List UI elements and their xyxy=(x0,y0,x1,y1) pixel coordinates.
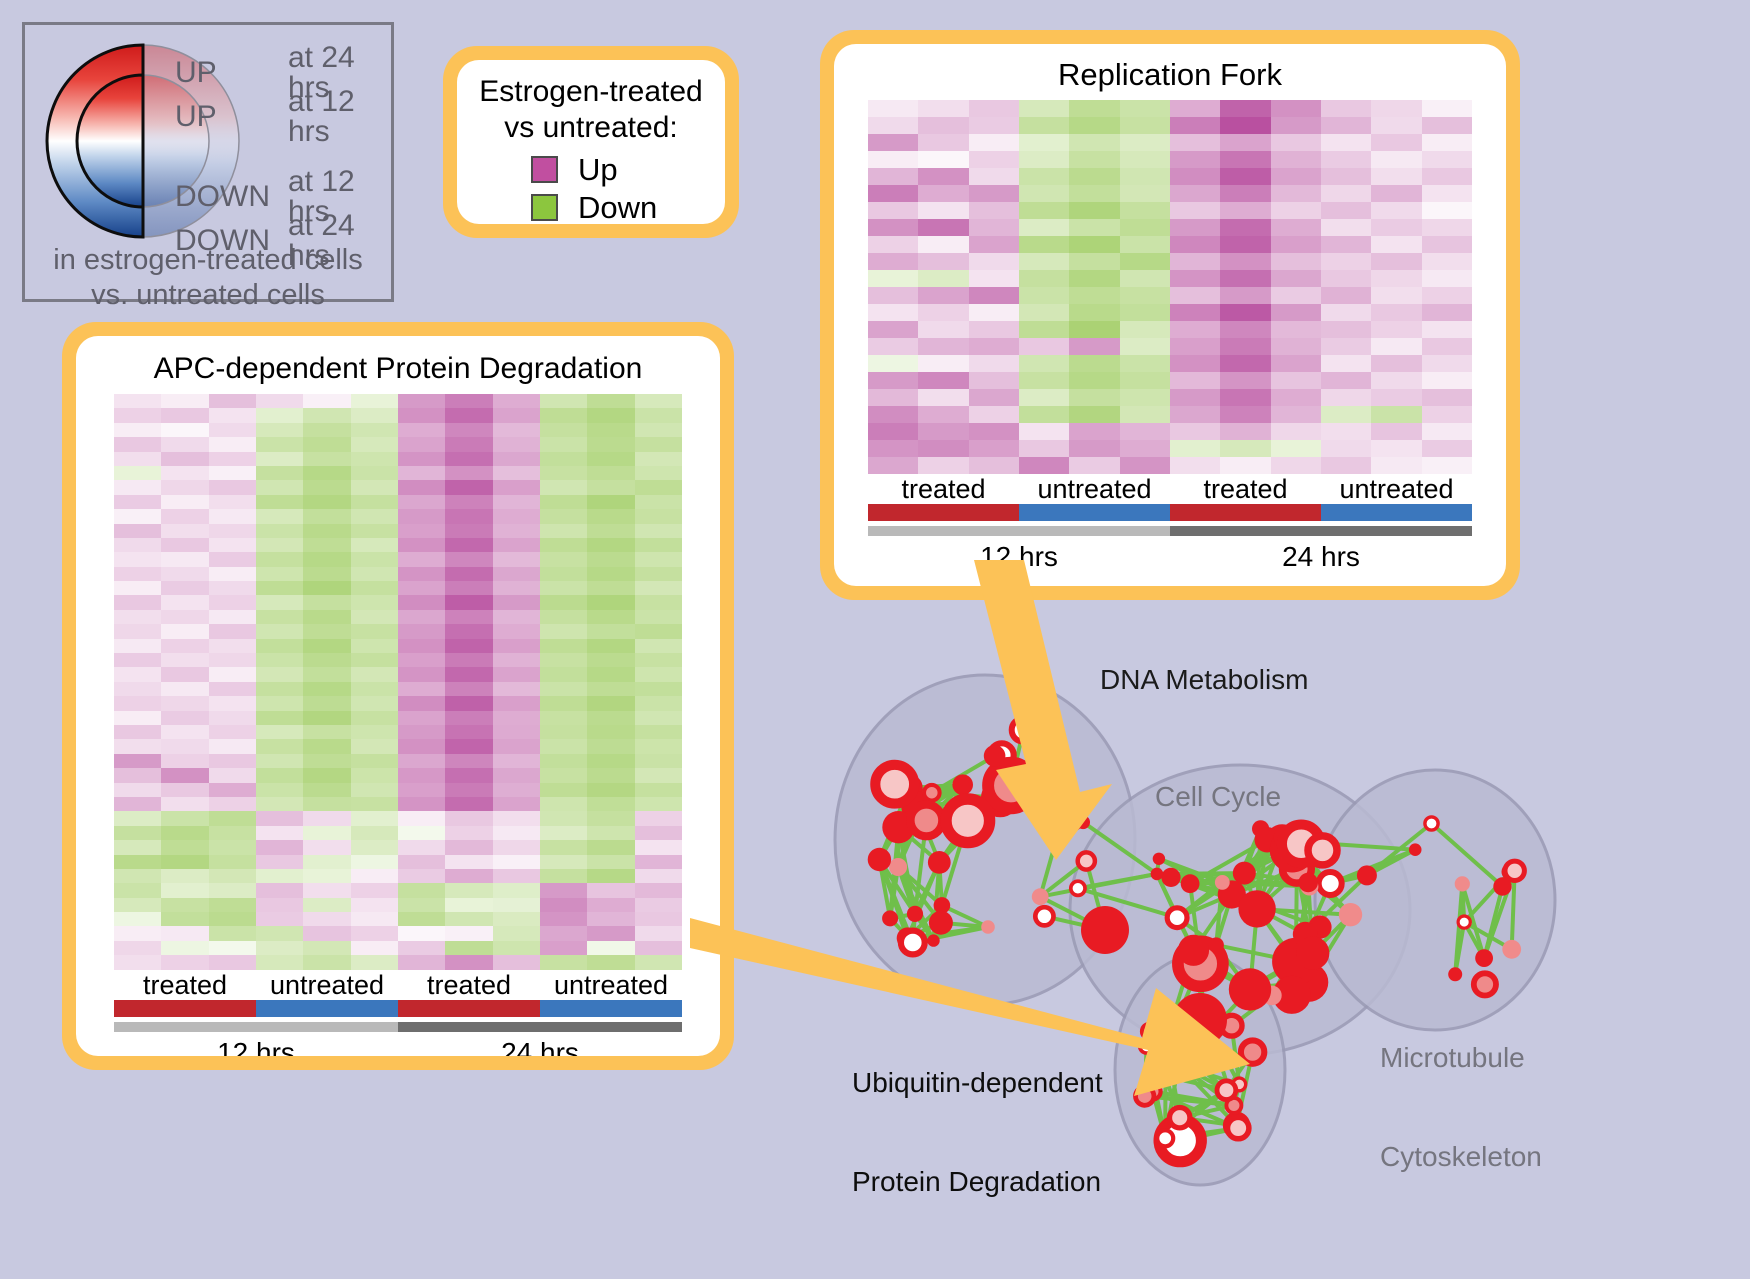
heatmap-cell xyxy=(303,912,350,926)
heatmap-cell xyxy=(114,552,161,566)
heatmap-cell xyxy=(256,811,303,825)
heatmap-cell xyxy=(493,797,540,811)
heatmap-cell xyxy=(1019,338,1069,355)
updown-legend-panel: Estrogen-treated vs untreated: Up Down xyxy=(443,46,739,238)
apc-axis: treated untreated treated untreated xyxy=(114,970,682,1056)
heatmap-cell xyxy=(351,437,398,451)
heatmap-cell xyxy=(303,509,350,523)
heatmap-cell xyxy=(1371,117,1421,134)
heatmap-cell xyxy=(161,883,208,897)
heatmap-cell xyxy=(1321,338,1371,355)
heatmap-cell xyxy=(114,840,161,854)
heatmap-cell xyxy=(303,926,350,940)
heatmap-cell xyxy=(256,955,303,969)
heatmap-cell xyxy=(256,667,303,681)
heatmap-cell xyxy=(1069,100,1119,117)
heatmap-cell xyxy=(1371,457,1421,474)
heatmap-cell xyxy=(1069,423,1119,440)
network-node xyxy=(1081,906,1129,954)
heatmap-cell xyxy=(587,739,634,753)
heatmap-cell xyxy=(1170,372,1220,389)
heatmap-cell xyxy=(209,667,256,681)
heatmap-cell xyxy=(209,408,256,422)
heatmap-cell xyxy=(1019,151,1069,168)
heatmap-cell xyxy=(161,855,208,869)
heatmap-cell xyxy=(114,394,161,408)
heatmap-cell xyxy=(1069,219,1119,236)
timepoint-bar-segment xyxy=(1170,526,1472,536)
heatmap-cell xyxy=(114,869,161,883)
heatmap-cell xyxy=(635,696,682,710)
heatmap-cell xyxy=(969,321,1019,338)
network-node xyxy=(1173,993,1227,1047)
heatmap-cell xyxy=(303,595,350,609)
heatmap-cell xyxy=(445,840,492,854)
heatmap-cell xyxy=(161,711,208,725)
heatmap-cell xyxy=(398,941,445,955)
heatmap-cell xyxy=(493,912,540,926)
heatmap-cell xyxy=(540,912,587,926)
heatmap-cell xyxy=(445,883,492,897)
heatmap-cell xyxy=(303,524,350,538)
network-node xyxy=(1409,843,1422,856)
heatmap-cell xyxy=(209,696,256,710)
heatmap-cell xyxy=(445,682,492,696)
network-node xyxy=(1078,852,1095,869)
up-swatch-icon xyxy=(531,156,558,183)
heatmap-cell xyxy=(398,653,445,667)
heatmap-cell xyxy=(1371,389,1421,406)
heatmap-cell xyxy=(587,394,634,408)
network-node xyxy=(1161,868,1180,887)
heatmap-cell xyxy=(635,754,682,768)
network-node xyxy=(1181,874,1200,893)
network-node xyxy=(868,848,891,871)
heatmap-cell xyxy=(398,696,445,710)
network-node xyxy=(927,934,939,946)
heatmap-cell xyxy=(868,219,918,236)
heatmap-cell xyxy=(303,466,350,480)
heatmap-cell xyxy=(587,696,634,710)
heatmap-cell xyxy=(1120,185,1170,202)
heatmap-cell xyxy=(635,739,682,753)
figure-root: UP at 24 hrs UP at 12 hrs DOWN at 12 hrs… xyxy=(0,0,1750,1279)
timepoint-label: 24 hrs xyxy=(1170,536,1472,574)
heatmap-cell xyxy=(1220,100,1270,117)
heatmap-cell xyxy=(209,538,256,552)
heatmap-cell xyxy=(635,524,682,538)
heatmap-cell xyxy=(493,624,540,638)
heatmap-cell xyxy=(114,898,161,912)
heatmap-cell xyxy=(918,287,968,304)
heatmap-cell xyxy=(1019,423,1069,440)
apc-panel-inner: APC-dependent Protein Degradation treate… xyxy=(76,336,720,1056)
heatmap-cell xyxy=(1321,372,1371,389)
heatmap-cell xyxy=(587,423,634,437)
heatmap-cell xyxy=(1019,253,1069,270)
heatmap-cell xyxy=(587,466,634,480)
heatmap-cell xyxy=(493,869,540,883)
heatmap-cell xyxy=(918,100,968,117)
heatmap-cell xyxy=(161,840,208,854)
heatmap-cell xyxy=(1422,287,1472,304)
heatmap-cell xyxy=(114,624,161,638)
heatmap-cell xyxy=(351,653,398,667)
heatmap-cell xyxy=(493,495,540,509)
heatmap-cell xyxy=(256,768,303,782)
heatmap-cell xyxy=(493,394,540,408)
heatmap-cell xyxy=(256,797,303,811)
heatmap-cell xyxy=(587,840,634,854)
heatmap-cell xyxy=(587,926,634,940)
network-node xyxy=(1475,949,1493,967)
heatmap-cell xyxy=(1170,151,1220,168)
heatmap-cell xyxy=(161,725,208,739)
heatmap-cell xyxy=(493,639,540,653)
condition-labels: treated untreated treated untreated xyxy=(868,474,1472,504)
heatmap-cell xyxy=(445,610,492,624)
heatmap-cell xyxy=(1120,236,1170,253)
network-node xyxy=(1238,890,1275,927)
heatmap-cell xyxy=(1371,168,1421,185)
heatmap-cell xyxy=(868,321,918,338)
colorbar-key: DOWN xyxy=(175,182,288,212)
heatmap-cell xyxy=(114,667,161,681)
heatmap-cell xyxy=(303,567,350,581)
cluster-label-cell-cycle: Cell Cycle xyxy=(1155,780,1281,813)
heatmap-cell xyxy=(635,855,682,869)
heatmap-cell xyxy=(161,466,208,480)
heatmap-cell xyxy=(1321,423,1371,440)
heatmap-cell xyxy=(445,639,492,653)
heatmap-cell xyxy=(256,538,303,552)
heatmap-cell xyxy=(1069,372,1119,389)
heatmap-cell xyxy=(587,711,634,725)
heatmap-cell xyxy=(161,926,208,940)
cluster-label-ubiquitin-line1: Ubiquitin-dependent xyxy=(852,1066,1103,1099)
heatmap-cell xyxy=(635,711,682,725)
heatmap-cell xyxy=(161,581,208,595)
heatmap-cell xyxy=(587,855,634,869)
heatmap-cell xyxy=(114,926,161,940)
heatmap-cell xyxy=(587,524,634,538)
heatmap-cell xyxy=(868,270,918,287)
heatmap-cell xyxy=(1371,270,1421,287)
heatmap-cell xyxy=(1321,117,1371,134)
network-node xyxy=(1228,1117,1249,1138)
heatmap-cell xyxy=(1019,168,1069,185)
heatmap-cell xyxy=(1170,321,1220,338)
heatmap-cell xyxy=(303,452,350,466)
heatmap-cell xyxy=(445,653,492,667)
heatmap-cell xyxy=(1069,304,1119,321)
heatmap-cell xyxy=(1271,253,1321,270)
heatmap-cell xyxy=(635,811,682,825)
heatmap-cell xyxy=(398,725,445,739)
heatmap-cell xyxy=(161,869,208,883)
network-node xyxy=(1319,872,1342,895)
heatmap-cell xyxy=(1019,117,1069,134)
heatmap-cell xyxy=(1120,304,1170,321)
heatmap-cell xyxy=(445,581,492,595)
network-node xyxy=(911,805,943,837)
heatmap-cell xyxy=(1321,406,1371,423)
heatmap-cell xyxy=(161,941,208,955)
heatmap-cell xyxy=(209,869,256,883)
heatmap-cell xyxy=(1069,389,1119,406)
heatmap-cell xyxy=(351,797,398,811)
heatmap-cell xyxy=(398,840,445,854)
heatmap-cell xyxy=(1120,321,1170,338)
heatmap-cell xyxy=(1120,355,1170,372)
heatmap-cell xyxy=(635,840,682,854)
heatmap-cell xyxy=(303,768,350,782)
heatmap-cell xyxy=(351,883,398,897)
network-node xyxy=(1035,907,1053,925)
heatmap-cell xyxy=(918,406,968,423)
heatmap-cell xyxy=(1220,202,1270,219)
heatmap-cell xyxy=(1220,151,1270,168)
heatmap-cell xyxy=(1422,372,1472,389)
heatmap-cell xyxy=(493,682,540,696)
heatmap-cell xyxy=(1271,304,1321,321)
legend-label-up: Up xyxy=(578,154,618,185)
timepoint-color-bar xyxy=(114,1022,682,1032)
network-node xyxy=(1217,1081,1236,1100)
heatmap-cell xyxy=(635,926,682,940)
heatmap-cell xyxy=(1120,134,1170,151)
heatmap-cell xyxy=(1170,236,1220,253)
heatmap-cell xyxy=(445,811,492,825)
heatmap-cell xyxy=(256,941,303,955)
colorbar-row-labels: UP at 24 hrs UP at 12 hrs DOWN at 12 hrs… xyxy=(175,51,391,263)
condition-label: untreated xyxy=(256,970,398,1000)
heatmap-cell xyxy=(398,739,445,753)
heatmap-cell xyxy=(445,768,492,782)
heatmap-cell xyxy=(918,219,968,236)
heatmap-cell xyxy=(918,338,968,355)
heatmap-cell xyxy=(1170,304,1220,321)
heatmap-cell xyxy=(1019,406,1069,423)
heatmap-cell xyxy=(351,955,398,969)
condition-bar-segment xyxy=(868,504,1019,521)
heatmap-cell xyxy=(351,610,398,624)
heatmap-cell xyxy=(161,624,208,638)
heatmap-cell xyxy=(398,437,445,451)
heatmap-cell xyxy=(635,898,682,912)
heatmap-cell xyxy=(256,524,303,538)
heatmap-cell xyxy=(868,355,918,372)
heatmap-cell xyxy=(1422,304,1472,321)
heatmap-cell xyxy=(1069,202,1119,219)
heatmap-cell xyxy=(1220,270,1270,287)
heatmap-cell xyxy=(114,725,161,739)
heatmap-cell xyxy=(303,667,350,681)
cluster-label-ubiquitin-line2: Protein Degradation xyxy=(852,1165,1103,1198)
heatmap-cell xyxy=(540,610,587,624)
heatmap-cell xyxy=(209,739,256,753)
heatmap-cell xyxy=(1220,372,1270,389)
heatmap-cell xyxy=(1271,236,1321,253)
heatmap-cell xyxy=(868,389,918,406)
replication-fork-title: Replication Fork xyxy=(834,44,1506,92)
heatmap-cell xyxy=(1069,253,1119,270)
heatmap-cell xyxy=(587,682,634,696)
heatmap-cell xyxy=(635,768,682,782)
heatmap-cell xyxy=(114,955,161,969)
heatmap-cell xyxy=(587,452,634,466)
heatmap-cell xyxy=(1422,100,1472,117)
heatmap-cell xyxy=(445,567,492,581)
heatmap-cell xyxy=(918,168,968,185)
heatmap-cell xyxy=(540,595,587,609)
heatmap-cell xyxy=(209,466,256,480)
heatmap-cell xyxy=(351,408,398,422)
heatmap-cell xyxy=(1170,389,1220,406)
heatmap-cell xyxy=(256,567,303,581)
heatmap-cell xyxy=(445,394,492,408)
condition-bar-segment xyxy=(114,1000,256,1017)
network-node xyxy=(907,906,923,922)
heatmap-cell xyxy=(445,509,492,523)
heatmap-cell xyxy=(114,768,161,782)
heatmap-cell xyxy=(587,552,634,566)
heatmap-cell xyxy=(868,202,918,219)
heatmap-cell xyxy=(1019,389,1069,406)
heatmap-cell xyxy=(1220,287,1270,304)
heatmap-cell xyxy=(635,394,682,408)
heatmap-cell xyxy=(540,739,587,753)
heatmap-cell xyxy=(1371,253,1421,270)
heatmap-cell xyxy=(493,610,540,624)
heatmap-cell xyxy=(445,437,492,451)
heatmap-cell xyxy=(635,423,682,437)
heatmap-cell xyxy=(969,372,1019,389)
cluster-label-microtubule-line1: Microtubule xyxy=(1380,1041,1542,1074)
heatmap-cell xyxy=(1321,219,1371,236)
heatmap-cell xyxy=(351,452,398,466)
heatmap-cell xyxy=(161,437,208,451)
heatmap-cell xyxy=(256,926,303,940)
heatmap-cell xyxy=(398,394,445,408)
heatmap-cell xyxy=(868,134,918,151)
heatmap-cell xyxy=(351,941,398,955)
network-node xyxy=(1215,875,1230,890)
heatmap-cell xyxy=(1019,236,1069,253)
heatmap-cell xyxy=(303,869,350,883)
heatmap-cell xyxy=(1371,304,1421,321)
heatmap-cell xyxy=(1220,423,1270,440)
heatmap-cell xyxy=(540,567,587,581)
heatmap-cell xyxy=(1069,151,1119,168)
heatmap-cell xyxy=(114,855,161,869)
heatmap-cell xyxy=(1271,117,1321,134)
heatmap-cell xyxy=(256,581,303,595)
condition-color-bar xyxy=(868,504,1472,521)
heatmap-cell xyxy=(351,495,398,509)
heatmap-cell xyxy=(587,898,634,912)
heatmap-cell xyxy=(303,538,350,552)
condition-label: treated xyxy=(114,970,256,1000)
network-node xyxy=(1298,873,1318,893)
heatmap-cell xyxy=(918,270,968,287)
heatmap-cell xyxy=(1120,372,1170,389)
heatmap-cell xyxy=(969,423,1019,440)
heatmap-cell xyxy=(540,653,587,667)
heatmap-cell xyxy=(351,912,398,926)
heatmap-cell xyxy=(969,457,1019,474)
heatmap-cell xyxy=(351,466,398,480)
heatmap-cell xyxy=(209,653,256,667)
heatmap-cell xyxy=(1271,389,1321,406)
condition-color-bar xyxy=(114,1000,682,1017)
heatmap-cell xyxy=(114,639,161,653)
heatmap-cell xyxy=(303,898,350,912)
heatmap-cell xyxy=(969,151,1019,168)
heatmap-cell xyxy=(493,855,540,869)
heatmap-cell xyxy=(114,538,161,552)
heatmap-cell xyxy=(398,797,445,811)
heatmap-cell xyxy=(114,797,161,811)
heatmap-cell xyxy=(209,797,256,811)
heatmap-cell xyxy=(1422,236,1472,253)
heatmap-cell xyxy=(351,538,398,552)
heatmap-cell xyxy=(1120,202,1170,219)
heatmap-cell xyxy=(1170,100,1220,117)
heatmap-cell xyxy=(1170,457,1220,474)
heatmap-cell xyxy=(1220,168,1270,185)
heatmap-cell xyxy=(161,595,208,609)
heatmap-cell xyxy=(303,682,350,696)
heatmap-cell xyxy=(256,912,303,926)
heatmap-cell xyxy=(398,552,445,566)
heatmap-cell xyxy=(114,653,161,667)
heatmap-cell xyxy=(540,408,587,422)
heatmap-cell xyxy=(303,797,350,811)
heatmap-cell xyxy=(1321,236,1371,253)
heatmap-cell xyxy=(1220,236,1270,253)
heatmap-cell xyxy=(540,639,587,653)
heatmap-cell xyxy=(635,581,682,595)
heatmap-cell xyxy=(1371,151,1421,168)
heatmap-cell xyxy=(256,696,303,710)
heatmap-cell xyxy=(587,754,634,768)
heatmap-cell xyxy=(540,509,587,523)
heatmap-cell xyxy=(635,595,682,609)
heatmap-cell xyxy=(1321,151,1371,168)
heatmap-cell xyxy=(540,840,587,854)
replication-fork-inner: Replication Fork treated untreated treat… xyxy=(834,44,1506,586)
pathway-network-diagram: DNA Metabolism Cell Cycle Microtubule Cy… xyxy=(800,600,1560,1279)
heatmap-cell xyxy=(209,480,256,494)
heatmap-cell xyxy=(161,826,208,840)
heatmap-cell xyxy=(1321,287,1371,304)
heatmap-cell xyxy=(1271,287,1321,304)
heatmap-cell xyxy=(398,509,445,523)
heatmap-cell xyxy=(256,855,303,869)
heatmap-cell xyxy=(351,524,398,538)
heatmap-cell xyxy=(493,538,540,552)
heatmap-cell xyxy=(635,941,682,955)
colorbar-footer-line2: vs. untreated cells xyxy=(25,278,391,313)
heatmap-cell xyxy=(1321,202,1371,219)
heatmap-cell xyxy=(209,783,256,797)
heatmap-cell xyxy=(1422,202,1472,219)
heatmap-cell xyxy=(398,610,445,624)
heatmap-cell xyxy=(493,408,540,422)
heatmap-cell xyxy=(1220,355,1270,372)
network-node xyxy=(1178,935,1209,966)
